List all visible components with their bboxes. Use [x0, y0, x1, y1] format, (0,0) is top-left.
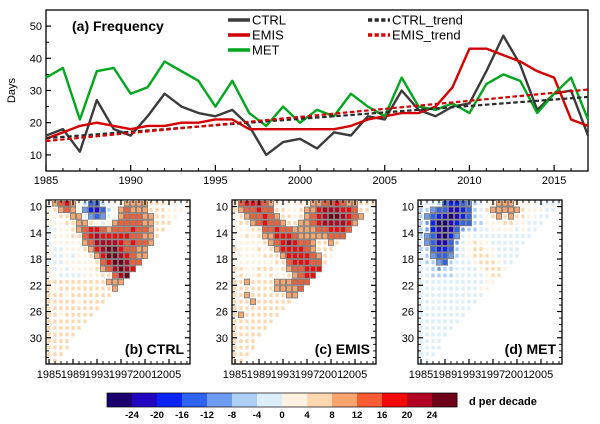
- heat-cell: [130, 214, 135, 220]
- colorbar-swatch: [432, 393, 457, 407]
- heat-cell: [263, 287, 266, 291]
- heat-cell: [89, 280, 92, 284]
- heat-cell: [88, 233, 93, 239]
- heat-cell: [466, 207, 471, 213]
- heat-cell: [65, 214, 68, 218]
- heat-cell: [419, 293, 422, 297]
- heat-cell: [275, 208, 278, 212]
- heat-cell: [454, 220, 459, 226]
- heat-cell: [328, 233, 333, 239]
- heat-cell: [59, 228, 62, 232]
- heat-cell: [431, 293, 434, 297]
- colorbar-swatch: [357, 393, 382, 407]
- heat-cell: [77, 247, 80, 251]
- heat-cell: [257, 247, 260, 251]
- heat-cell: [467, 293, 470, 297]
- heat-cell: [239, 346, 242, 350]
- heat-cell: [491, 228, 494, 232]
- heat-cell: [83, 306, 86, 310]
- heat-cell: [101, 287, 104, 291]
- heat-cell: [485, 260, 488, 264]
- heat-cell: [245, 221, 248, 225]
- heat-cell: [334, 214, 339, 220]
- heat-cell: [263, 267, 266, 271]
- heat-cell: [53, 228, 56, 232]
- heat-cell: [251, 234, 254, 238]
- heat-cell: [431, 319, 434, 323]
- panel-a-xtick-label: 2005: [373, 175, 397, 187]
- heat-cell: [431, 280, 434, 284]
- heat-cell: [124, 273, 129, 279]
- heat-cell: [473, 254, 476, 258]
- heat-cell: [352, 207, 357, 213]
- heat-cell: [257, 260, 260, 264]
- colorbar-tick-label: 24: [427, 410, 438, 421]
- heat-cell: [65, 228, 68, 232]
- heat-cell: [298, 286, 303, 292]
- heat-cell: [233, 274, 236, 278]
- heat-cell: [467, 247, 470, 251]
- heat-cell: [461, 254, 464, 258]
- heat-cell: [479, 214, 482, 218]
- heat-cell: [274, 220, 279, 226]
- heat-cell: [112, 227, 117, 233]
- heat-cell: [479, 254, 482, 258]
- heat-cell: [455, 313, 458, 317]
- heat-cell: [142, 246, 147, 252]
- heat-cell: [485, 280, 488, 284]
- heat-cell: [167, 221, 170, 225]
- heat-cell: [448, 253, 453, 259]
- heat-cell: [71, 234, 74, 238]
- panel-c-ytick-label: 10: [216, 202, 228, 214]
- heat-cell: [419, 306, 422, 310]
- heat-cell: [449, 267, 452, 271]
- heat-cell: [425, 287, 428, 291]
- panel-d-ytick-label: 26: [402, 307, 414, 319]
- heat-cell: [316, 253, 321, 259]
- heat-cell: [340, 214, 345, 220]
- panel-d-xtick-label: 1993: [457, 369, 481, 381]
- heat-cell: [257, 228, 260, 232]
- heat-cell: [257, 254, 260, 258]
- heat-cell: [59, 280, 62, 284]
- heat-cell: [431, 346, 434, 350]
- heat-cell: [485, 241, 488, 245]
- heat-cell: [425, 306, 428, 310]
- heat-cell: [419, 280, 422, 284]
- heat-cell: [257, 234, 260, 238]
- heat-cell: [71, 280, 74, 284]
- heat-cell: [329, 247, 332, 251]
- heat-cell: [425, 346, 428, 350]
- heat-cell: [419, 346, 422, 350]
- heat-cell: [473, 300, 476, 304]
- heat-cell: [431, 339, 434, 343]
- heat-cell: [101, 293, 104, 297]
- heat-cell: [239, 274, 242, 278]
- heat-cell: [53, 326, 56, 330]
- heat-cell: [292, 253, 297, 259]
- heat-cell: [130, 259, 135, 265]
- heat-cell: [245, 339, 248, 343]
- heat-cell: [82, 220, 87, 226]
- heat-cell: [118, 266, 123, 272]
- heat-cell: [76, 214, 81, 220]
- heat-cell: [299, 214, 302, 218]
- heat-cell: [454, 214, 459, 220]
- heat-cell: [430, 227, 435, 233]
- heat-cell: [65, 293, 68, 297]
- heat-cell: [59, 300, 62, 304]
- heat-cell: [436, 207, 441, 213]
- heat-cell: [491, 254, 494, 258]
- heat-cell: [304, 207, 309, 213]
- heat-cell: [130, 246, 135, 252]
- heat-cell: [442, 207, 447, 213]
- heat-cell: [419, 208, 422, 212]
- heat-cell: [65, 287, 68, 291]
- heat-cell: [419, 214, 422, 218]
- heat-cell: [461, 247, 464, 251]
- heat-cell: [89, 300, 92, 304]
- heat-cell: [425, 352, 428, 356]
- heat-cell: [286, 246, 291, 252]
- heat-cell: [251, 313, 254, 317]
- panel-a-xtick-label: 1985: [34, 175, 58, 187]
- heat-cell: [461, 306, 464, 310]
- heat-cell: [419, 326, 422, 330]
- heat-cell: [47, 267, 50, 271]
- heat-cell: [509, 260, 512, 264]
- heat-cell: [521, 228, 524, 232]
- heat-cell: [298, 227, 303, 233]
- heat-cell: [425, 247, 428, 251]
- heat-cell: [124, 214, 129, 220]
- panel-a-xtick-label: 2010: [457, 175, 481, 187]
- heat-cell: [95, 287, 98, 291]
- heat-cell: [515, 254, 518, 258]
- panel-b-ytick-label: 22: [30, 280, 42, 292]
- heat-cell: [269, 287, 272, 291]
- heat-cell: [106, 233, 111, 239]
- heat-cell: [262, 233, 267, 239]
- heat-cell: [47, 339, 50, 343]
- heat-cell: [256, 220, 261, 226]
- heat-cell: [251, 319, 254, 323]
- heat-cell: [437, 300, 440, 304]
- heat-cell: [419, 260, 422, 264]
- heat-cell: [281, 274, 284, 278]
- heat-cell: [316, 214, 321, 220]
- heat-cell: [322, 220, 327, 226]
- heat-cell: [239, 287, 242, 291]
- heat-cell: [497, 247, 500, 251]
- heat-cell: [53, 280, 56, 284]
- heat-cell: [310, 266, 315, 272]
- heat-cell: [455, 306, 458, 310]
- heat-cell: [263, 274, 266, 278]
- heat-cell: [425, 333, 428, 337]
- heat-cell: [467, 267, 470, 271]
- colorbar-swatch: [157, 393, 182, 407]
- heat-cell: [136, 220, 141, 226]
- heat-cell: [257, 326, 260, 330]
- heat-cell: [269, 260, 272, 264]
- heat-cell: [286, 292, 291, 298]
- heat-cell: [437, 287, 440, 291]
- heat-cell: [95, 267, 98, 271]
- heat-cell: [239, 333, 242, 337]
- heat-cell: [94, 233, 99, 239]
- heat-cell: [533, 228, 536, 232]
- heat-cell: [491, 221, 494, 225]
- heat-cell: [71, 319, 74, 323]
- legend-label-ctrl: CTRL: [252, 13, 286, 28]
- heat-cell: [53, 267, 56, 271]
- heat-cell: [340, 207, 345, 213]
- heat-cell: [268, 207, 273, 213]
- heat-cell: [425, 313, 428, 317]
- heat-cell: [310, 207, 315, 213]
- panel-c-ytick-label: 26: [216, 307, 228, 319]
- heat-cell: [455, 267, 458, 271]
- heat-cell: [100, 233, 105, 239]
- panel-c-heatmap: 101418222630198519891993199720012005(c) …: [216, 200, 376, 381]
- heat-cell: [77, 293, 80, 297]
- heat-cell: [269, 319, 272, 323]
- heat-cell: [443, 333, 446, 337]
- heat-cell: [106, 246, 111, 252]
- heat-cell: [479, 228, 482, 232]
- panel-a-xtick-label: 2015: [542, 175, 566, 187]
- heat-cell: [430, 214, 435, 220]
- heat-cell: [112, 273, 117, 279]
- heat-cell: [455, 274, 458, 278]
- heat-cell: [316, 266, 321, 272]
- heat-cell: [461, 260, 464, 264]
- heat-cell: [71, 241, 74, 245]
- heat-cell: [461, 293, 464, 297]
- heat-cell: [473, 267, 476, 271]
- panel-b-ytick-label: 10: [30, 202, 42, 214]
- panel-c-xtick-label: 1989: [247, 369, 271, 381]
- heat-cell: [59, 254, 62, 258]
- heat-cell: [251, 287, 254, 291]
- heat-cell: [65, 254, 68, 258]
- panel-a-ytick-label: 30: [30, 86, 42, 98]
- heat-cell: [71, 228, 74, 232]
- panel-c-ytick-label: 30: [216, 333, 228, 345]
- heat-cell: [59, 267, 62, 271]
- heat-cell: [280, 240, 285, 246]
- heat-cell: [245, 254, 248, 258]
- heat-cell: [304, 227, 309, 233]
- heat-cell: [233, 260, 236, 264]
- panel-b-heatmap: 101418222630198519891993199720012005(b) …: [30, 200, 190, 381]
- heat-cell: [310, 214, 315, 220]
- heat-cell: [454, 233, 459, 239]
- heat-cell: [310, 246, 315, 252]
- heat-cell: [449, 260, 452, 264]
- heat-cell: [430, 240, 435, 246]
- heat-cell: [515, 241, 518, 245]
- heat-cell: [298, 253, 303, 259]
- heat-cell: [322, 214, 327, 220]
- heat-cell: [245, 326, 248, 330]
- heat-cell: [286, 253, 291, 259]
- panel-d-xtick-label: 1997: [481, 369, 505, 381]
- panel-d-xtick-label: 2005: [529, 369, 553, 381]
- heat-cell: [352, 214, 357, 220]
- heat-cell: [94, 253, 99, 259]
- heat-cell: [334, 233, 339, 239]
- heat-cell: [437, 280, 440, 284]
- heat-cell: [268, 220, 273, 226]
- panel-d-ytick-label: 10: [402, 202, 414, 214]
- heat-cell: [71, 260, 74, 264]
- heat-cell: [100, 253, 105, 259]
- heat-cell: [424, 214, 429, 220]
- heat-cell: [503, 267, 506, 271]
- heat-cell: [442, 214, 447, 220]
- heat-cell: [65, 221, 68, 225]
- heat-cell: [71, 254, 74, 258]
- heat-cell: [442, 240, 447, 246]
- heat-cell: [310, 259, 315, 265]
- heat-cell: [467, 254, 470, 258]
- heat-cell: [454, 207, 459, 213]
- heat-cell: [467, 260, 470, 264]
- heat-cell: [124, 207, 129, 213]
- heat-cell: [239, 293, 242, 297]
- heat-cell: [250, 299, 255, 305]
- panel-a-xtick-label: 2000: [288, 175, 312, 187]
- heat-cell: [233, 254, 236, 258]
- heat-cell: [136, 253, 141, 259]
- heat-cell: [239, 267, 242, 271]
- heat-cell: [448, 227, 453, 233]
- heat-cell: [118, 227, 123, 233]
- heat-cell: [251, 267, 254, 271]
- heat-cell: [53, 241, 56, 245]
- heat-cell: [47, 228, 50, 232]
- heat-cell: [545, 214, 548, 218]
- heat-cell: [527, 234, 530, 238]
- heat-cell: [112, 259, 117, 265]
- heat-cell: [244, 207, 249, 213]
- heat-cell: [425, 280, 428, 284]
- heat-cell: [53, 287, 56, 291]
- heat-cell: [244, 292, 249, 298]
- heat-cell: [298, 266, 303, 272]
- panel-b-xtick-label: 2005: [157, 369, 181, 381]
- heat-cell: [425, 274, 428, 278]
- heat-cell: [491, 247, 494, 251]
- heat-cell: [269, 293, 272, 297]
- heat-cell: [136, 207, 141, 213]
- heat-cell: [76, 220, 81, 226]
- heat-cell: [77, 313, 80, 317]
- heat-cell: [77, 267, 80, 271]
- heat-cell: [485, 254, 488, 258]
- heat-cell: [71, 306, 74, 310]
- heat-cell: [47, 326, 50, 330]
- heat-cell: [473, 241, 476, 245]
- colorbar-tick-label: -24: [125, 410, 139, 421]
- heat-cell: [251, 293, 254, 297]
- heat-cell: [304, 266, 309, 272]
- heat-cell: [233, 214, 236, 218]
- heat-cell: [112, 253, 117, 259]
- heat-cell: [263, 280, 266, 284]
- heat-cell: [64, 207, 69, 213]
- heat-cell: [233, 234, 236, 238]
- heat-cell: [274, 246, 279, 252]
- heat-cell: [47, 319, 50, 323]
- heat-cell: [239, 339, 242, 343]
- heat-cell: [340, 227, 345, 233]
- heat-cell: [245, 319, 248, 323]
- heat-cell: [274, 227, 279, 233]
- heat-cell: [233, 208, 236, 212]
- heat-cell: [155, 214, 158, 218]
- heat-cell: [245, 287, 248, 291]
- heat-cell: [257, 300, 260, 304]
- heat-cell: [233, 300, 236, 304]
- heat-cell: [233, 313, 236, 317]
- heat-cell: [436, 253, 441, 259]
- heat-cell: [112, 233, 117, 239]
- heat-cell: [94, 246, 99, 252]
- heat-cell: [263, 319, 266, 323]
- heat-cell: [257, 267, 260, 271]
- heat-cell: [59, 339, 62, 343]
- colorbar-tick-label: -12: [200, 410, 214, 421]
- heat-cell: [47, 234, 50, 238]
- heat-cell: [479, 260, 482, 264]
- heat-cell: [304, 253, 309, 259]
- heat-cell: [101, 280, 104, 284]
- heat-cell: [59, 352, 62, 356]
- heat-cell: [503, 214, 506, 218]
- heat-cell: [233, 221, 236, 225]
- heat-cell: [239, 234, 242, 238]
- heat-cell: [479, 293, 482, 297]
- heat-cell: [142, 253, 147, 259]
- heat-cell: [71, 221, 74, 225]
- heat-cell: [316, 207, 321, 213]
- heat-cell: [47, 274, 50, 278]
- heat-cell: [503, 234, 506, 238]
- heat-cell: [245, 228, 248, 232]
- heat-cell: [71, 326, 74, 330]
- panel-b-ytick-label: 14: [30, 228, 42, 240]
- heat-cell: [239, 254, 242, 258]
- heat-cell: [53, 333, 56, 337]
- heat-cell: [251, 274, 254, 278]
- heat-cell: [274, 286, 279, 292]
- heat-cell: [419, 300, 422, 304]
- heat-cell: [47, 208, 50, 212]
- heat-cell: [149, 208, 152, 212]
- colorbar-swatch: [257, 393, 282, 407]
- heat-cell: [298, 279, 303, 285]
- heat-cell: [275, 254, 278, 258]
- heat-cell: [442, 253, 447, 259]
- heat-cell: [71, 274, 74, 278]
- heat-cell: [65, 339, 68, 343]
